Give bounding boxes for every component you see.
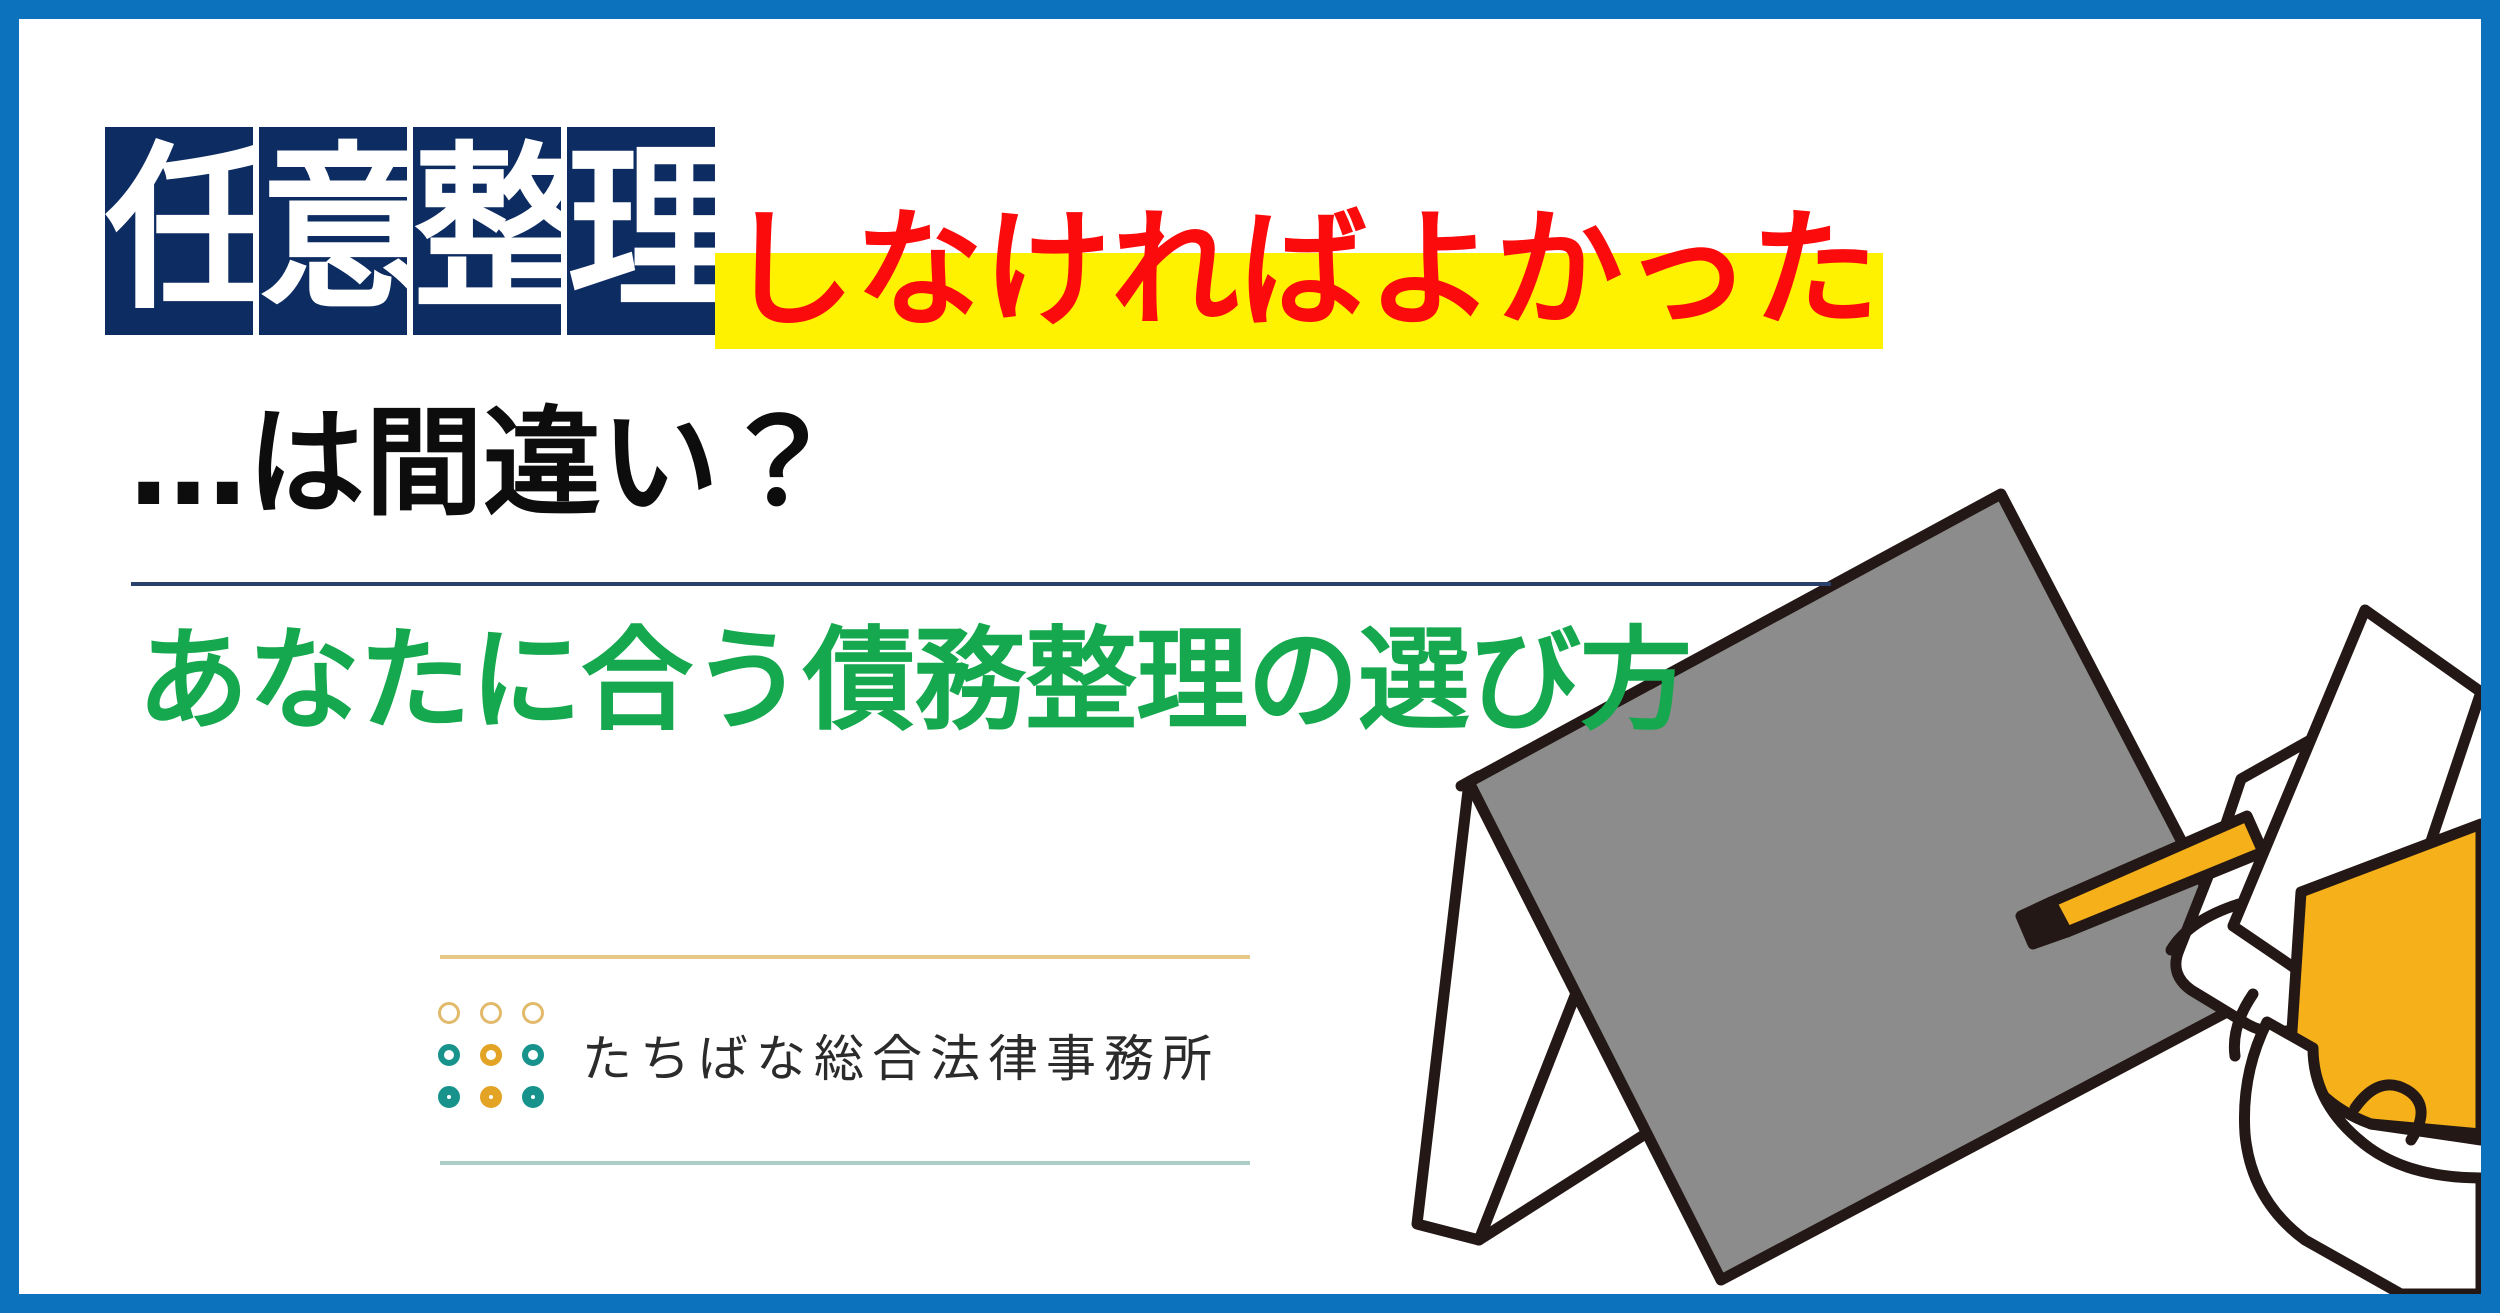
boxed-kanji-4: 理 [567, 127, 715, 335]
logo-divider-top [440, 955, 1250, 959]
highlighted-headline-text: しなければよかった [715, 207, 1883, 349]
logo-divider-bottom [440, 1161, 1250, 1165]
illustration-tablet-stylus-hands [1361, 434, 2481, 1294]
content-area: 任 意 整 理 しなければよかった …は間違い？ あなたに合う債務整理の選び方 [19, 19, 2481, 1294]
boxed-kanji-2: 意 [259, 127, 407, 335]
headline-row-secondary: …は間違い？ [129, 399, 837, 529]
divider-navy [131, 582, 1831, 586]
firm-name-label: たちばな総合法律事務所 [582, 1019, 1220, 1091]
logo-dot-3-3 [522, 1086, 544, 1108]
logo-lockup: たちばな総合法律事務所 [424, 955, 1254, 1165]
boxed-kanji-1: 任 [105, 127, 253, 335]
subtitle-text: あなたに合う債務整理の選び方 [137, 617, 1691, 746]
logo-dot-2-1 [438, 1044, 460, 1066]
logo-body: たちばな総合法律事務所 [436, 999, 1220, 1111]
logo-dot-3-2 [480, 1086, 502, 1108]
logo-dot-matrix-icon [436, 999, 546, 1111]
boxed-kanji-group: 任 意 整 理 [105, 127, 715, 335]
logo-dot-1-2 [480, 1002, 502, 1024]
thumbnail-canvas: 任 意 整 理 しなければよかった …は間違い？ あなたに合う債務整理の選び方 [0, 0, 2500, 1313]
logo-dot-3-1 [438, 1086, 460, 1108]
headline-row-primary: 任 意 整 理 しなければよかった [105, 107, 1883, 335]
logo-dot-1-3 [522, 1002, 544, 1024]
logo-dot-2-3 [522, 1044, 544, 1066]
logo-dot-2-2 [480, 1044, 502, 1066]
boxed-kanji-3: 整 [413, 127, 561, 335]
logo-dot-1-1 [438, 1002, 460, 1024]
